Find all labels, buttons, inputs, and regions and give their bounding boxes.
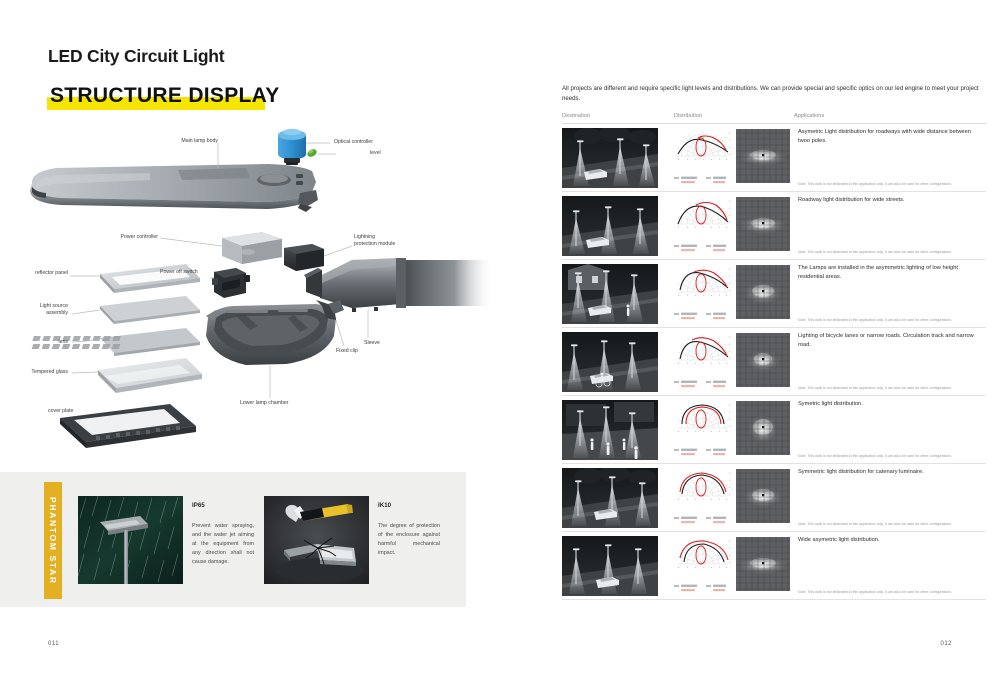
application-note: Note: This optic is not dedicated to thi… (798, 522, 982, 527)
label-main-lamp-body: Main lamp body (156, 138, 218, 145)
svg-text:6: 6 (719, 295, 721, 297)
table-header-row: Destination Distribution Applications (562, 110, 986, 124)
table-row: 864 2468 0246 (562, 124, 986, 192)
table-row: 864 2468 0246 (562, 328, 986, 396)
left-page-number: 011 (48, 641, 59, 647)
section-heading: STRUCTURE DISPLAY (50, 84, 280, 108)
cell-distribution: 864 2468 0246 (674, 536, 794, 599)
svg-text:4: 4 (729, 419, 731, 421)
right-page: All projects are different and require s… (500, 0, 1000, 683)
svg-text:8: 8 (726, 567, 728, 569)
application-description: Roadway light distribution for wide stre… (798, 196, 974, 205)
svg-text:6: 6 (719, 363, 721, 365)
polar-legend (674, 240, 732, 250)
label-sleeve: Sleeve (364, 340, 380, 347)
svg-text:2: 2 (729, 276, 731, 278)
exploded-structure-diagram: Optical controller level Main lamp body … (0, 108, 500, 458)
application-description: Lighting of bicycle lanes or narrow road… (798, 332, 974, 350)
svg-text:4: 4 (695, 567, 697, 569)
polar-legend-svg (674, 243, 732, 253)
svg-text:8: 8 (726, 159, 728, 161)
svg-text:6: 6 (687, 295, 689, 297)
polar-legend (674, 444, 732, 454)
cell-destination (562, 536, 674, 599)
application-description: The Lamps are installed in the asymmetri… (798, 264, 974, 282)
col-header-applications: Applications (794, 110, 986, 123)
svg-text:2: 2 (703, 295, 705, 297)
destination-scene-svg (562, 196, 658, 256)
label-level: level (370, 150, 381, 157)
label-cover-plate: cover plate (48, 408, 73, 415)
brand-tab-label: PHANTOM STAR (48, 497, 58, 585)
polar-legend-svg (674, 311, 732, 321)
polar-legend-svg (674, 379, 732, 389)
svg-text:4: 4 (695, 431, 697, 433)
svg-text:6: 6 (719, 567, 721, 569)
power-off-switch-part (212, 268, 250, 298)
svg-text:6: 6 (719, 159, 721, 161)
svg-text:2: 2 (703, 567, 705, 569)
table-row: 864 2468 0246 (562, 192, 986, 260)
svg-text:8: 8 (678, 363, 680, 365)
destination-scene-svg (562, 536, 658, 596)
svg-text:6: 6 (729, 494, 731, 496)
isolux-grid-svg (736, 129, 790, 183)
label-power-controller: Power controller (96, 234, 158, 241)
label-light-source-assembly: Light source assembly (8, 303, 68, 316)
polar-diagram: 864 2468 0246 (674, 468, 732, 508)
svg-text:0: 0 (729, 541, 731, 543)
svg-text:2: 2 (729, 480, 731, 482)
destination-scene-svg (562, 264, 658, 324)
cell-application: Asymetric Light distribution for roadway… (794, 128, 986, 191)
svg-text:2: 2 (729, 140, 731, 142)
main-lamp-body-part (30, 164, 318, 212)
cell-distribution: 864 2468 0246 (674, 128, 794, 191)
svg-text:2: 2 (703, 159, 705, 161)
level-part (306, 148, 318, 159)
catalog-spread: LED City Circuit Light STRUCTURE DISPLAY (0, 0, 1000, 683)
svg-text:6: 6 (729, 562, 731, 564)
svg-text:8: 8 (678, 567, 680, 569)
isolux-diagram (736, 129, 790, 183)
svg-text:4: 4 (695, 159, 697, 161)
isolux-grid-svg (736, 265, 790, 319)
application-note: Note: This optic is not dedicated to thi… (798, 386, 982, 391)
svg-text:0: 0 (729, 133, 731, 135)
col-header-distribution: Distribution (674, 110, 794, 123)
cell-distribution: 864 2468 0246 (674, 332, 794, 395)
cell-application: The Lamps are installed in the asymmetri… (794, 264, 986, 327)
svg-text:8: 8 (678, 499, 680, 501)
cell-destination (562, 128, 674, 191)
lightning-protection-module-part (284, 244, 324, 271)
optical-controller-part (278, 129, 306, 165)
svg-text:6: 6 (719, 431, 721, 433)
cell-destination (562, 400, 674, 463)
intro-paragraph: All projects are different and require s… (562, 84, 982, 105)
svg-text:4: 4 (711, 159, 713, 161)
svg-text:2: 2 (729, 548, 731, 550)
label-optical-controller: Optical controller (334, 139, 373, 146)
cell-application: Lighting of bicycle lanes or narrow road… (794, 332, 986, 395)
polar-diagram: 864 2468 0246 (674, 128, 732, 168)
hammer-impact-svg (264, 496, 369, 584)
svg-text:4: 4 (729, 215, 731, 217)
svg-text:4: 4 (711, 431, 713, 433)
isolux-grid-svg (736, 469, 790, 523)
svg-text:6: 6 (687, 363, 689, 365)
application-description: Symmetric light distribution for catenar… (798, 468, 974, 477)
polar-legend (674, 580, 732, 590)
col-header-destination: Destination (562, 110, 674, 123)
svg-text:0: 0 (729, 337, 731, 339)
svg-text:6: 6 (687, 567, 689, 569)
svg-text:2: 2 (703, 431, 705, 433)
polar-diagram: 864 2468 0246 (674, 264, 732, 304)
svg-text:4: 4 (695, 295, 697, 297)
cell-application: Roadway light distribution for wide stre… (794, 196, 986, 259)
svg-text:8: 8 (726, 295, 728, 297)
ip65-title: IP65 (192, 502, 205, 509)
isolux-diagram (736, 469, 790, 523)
cell-application: Symetric light distribution. Note: This … (794, 400, 986, 463)
cell-application: Wide asymetric light distribution. Note:… (794, 536, 986, 599)
lower-lamp-chamber-part (206, 300, 344, 365)
polar-curve-svg: 864 2468 0246 (674, 536, 732, 576)
left-page: LED City Circuit Light STRUCTURE DISPLAY (0, 0, 500, 683)
ip65-description: Prevent water spraying, and the water je… (192, 522, 254, 567)
cell-distribution: 864 2468 0246 (674, 400, 794, 463)
svg-text:0: 0 (729, 405, 731, 407)
svg-text:4: 4 (711, 567, 713, 569)
svg-text:8: 8 (726, 431, 728, 433)
svg-text:2: 2 (729, 344, 731, 346)
svg-text:0: 0 (729, 201, 731, 203)
ik10-description: The degree of protection of the enclosur… (378, 522, 440, 558)
tempered-glass-part (98, 358, 202, 393)
label-power-off-switch: Power off switch (160, 269, 198, 276)
polar-diagram: 864 2468 0246 (674, 400, 732, 440)
svg-text:4: 4 (729, 487, 731, 489)
polar-legend-svg (674, 515, 732, 525)
cell-destination (562, 332, 674, 395)
destination-scene-svg (562, 128, 658, 188)
svg-text:8: 8 (726, 227, 728, 229)
application-note: Note: This optic is not dedicated to thi… (798, 454, 982, 459)
polar-curve-svg: 864 2468 0246 (674, 468, 732, 508)
polar-legend (674, 308, 732, 318)
right-page-number: 012 (940, 641, 952, 647)
svg-text:4: 4 (695, 363, 697, 365)
cell-distribution: 864 2468 0246 (674, 468, 794, 531)
section-heading-label: STRUCTURE DISPLAY (50, 84, 280, 108)
power-controller-part (222, 232, 282, 264)
ik10-photo (264, 496, 369, 584)
label-lower-lamp-chamber: Lower lamp chamber (240, 400, 288, 407)
ip65-photo (78, 496, 183, 584)
svg-text:8: 8 (726, 499, 728, 501)
isolux-diagram (736, 401, 790, 455)
application-description: Symetric light distribution. (798, 400, 974, 409)
svg-text:6: 6 (687, 431, 689, 433)
table-row: 864 2468 0246 (562, 260, 986, 328)
optics-table: Destination Distribution Applications (562, 110, 986, 600)
ik10-title: IK10 (378, 502, 391, 509)
label-lens: lens (8, 339, 68, 346)
polar-curve-svg: 864 2468 0246 (674, 400, 732, 440)
destination-scene-svg (562, 332, 658, 392)
table-row: 864 2468 0246 (562, 532, 986, 600)
application-description: Wide asymetric light distribution. (798, 536, 974, 545)
isolux-diagram (736, 333, 790, 387)
polar-legend (674, 376, 732, 386)
isolux-diagram (736, 537, 790, 591)
isolux-grid-svg (736, 537, 790, 591)
svg-text:4: 4 (729, 283, 731, 285)
svg-text:4: 4 (711, 363, 713, 365)
table-body: 864 2468 0246 (562, 124, 986, 600)
svg-text:8: 8 (678, 295, 680, 297)
svg-text:6: 6 (719, 227, 721, 229)
polar-legend (674, 512, 732, 522)
polar-diagram: 864 2468 0246 (674, 196, 732, 236)
application-note: Note: This optic is not dedicated to thi… (798, 250, 982, 255)
table-row: 864 2468 0246 (562, 396, 986, 464)
light-source-assembly-part (100, 296, 200, 324)
rain-scene-svg (78, 496, 183, 584)
page-title: LED City Circuit Light (48, 46, 224, 67)
svg-text:4: 4 (711, 227, 713, 229)
polar-legend-svg (674, 447, 732, 457)
polar-curve-svg: 864 2468 0246 (674, 332, 732, 372)
svg-text:8: 8 (726, 363, 728, 365)
svg-text:8: 8 (678, 159, 680, 161)
svg-text:2: 2 (729, 208, 731, 210)
polar-legend (674, 172, 732, 182)
svg-text:2: 2 (703, 363, 705, 365)
isolux-diagram (736, 197, 790, 251)
isolux-grid-svg (736, 333, 790, 387)
isolux-diagram (736, 265, 790, 319)
svg-text:6: 6 (729, 222, 731, 224)
cover-plate-part (60, 404, 196, 448)
polar-diagram: 864 2468 0246 (674, 332, 732, 372)
label-reflector-panel: reflector panel (8, 270, 68, 277)
svg-text:6: 6 (729, 426, 731, 428)
svg-text:6: 6 (687, 159, 689, 161)
svg-text:2: 2 (703, 499, 705, 501)
application-description: Asymetric Light distribution for roadway… (798, 128, 974, 146)
table-row: 864 2468 0246 (562, 464, 986, 532)
svg-text:6: 6 (729, 358, 731, 360)
svg-text:4: 4 (695, 227, 697, 229)
svg-text:4: 4 (729, 555, 731, 557)
polar-diagram: 864 2468 0246 (674, 536, 732, 576)
polar-curve-svg: 864 2468 0246 (674, 128, 732, 168)
svg-text:4: 4 (729, 351, 731, 353)
svg-text:8: 8 (678, 227, 680, 229)
svg-text:4: 4 (711, 499, 713, 501)
cell-destination (562, 468, 674, 531)
polar-legend-svg (674, 583, 732, 593)
svg-text:0: 0 (729, 269, 731, 271)
cell-application: Symmetric light distribution for catenar… (794, 468, 986, 531)
isolux-grid-svg (736, 401, 790, 455)
cell-destination (562, 196, 674, 259)
label-lightning-protection-module: Lightning protection module (354, 234, 395, 247)
svg-text:8: 8 (678, 431, 680, 433)
polar-curve-svg: 864 2468 0246 (674, 264, 732, 304)
svg-text:2: 2 (729, 412, 731, 414)
application-note: Note: This optic is not dedicated to thi… (798, 318, 982, 323)
polar-curve-svg: 864 2468 0246 (674, 196, 732, 236)
svg-text:6: 6 (729, 154, 731, 156)
svg-text:6: 6 (687, 227, 689, 229)
svg-text:4: 4 (695, 499, 697, 501)
destination-scene-svg (562, 468, 658, 528)
cell-distribution: 864 2468 0246 (674, 264, 794, 327)
application-note: Note: This optic is not dedicated to thi… (798, 182, 982, 187)
polar-legend-svg (674, 175, 732, 185)
destination-scene-svg (562, 400, 658, 460)
cell-destination (562, 264, 674, 327)
svg-text:6: 6 (719, 499, 721, 501)
label-tempered-glass: Tempered glass (8, 369, 68, 376)
cell-distribution: 864 2468 0246 (674, 196, 794, 259)
svg-text:0: 0 (729, 473, 731, 475)
isolux-grid-svg (736, 197, 790, 251)
brand-tab: PHANTOM STAR (44, 482, 62, 599)
application-note: Note: This optic is not dedicated to thi… (798, 590, 982, 595)
svg-text:6: 6 (729, 290, 731, 292)
svg-text:2: 2 (703, 227, 705, 229)
svg-text:6: 6 (687, 499, 689, 501)
svg-text:4: 4 (711, 295, 713, 297)
label-fixed-clip: Fixed clip (336, 348, 358, 355)
svg-text:4: 4 (729, 147, 731, 149)
